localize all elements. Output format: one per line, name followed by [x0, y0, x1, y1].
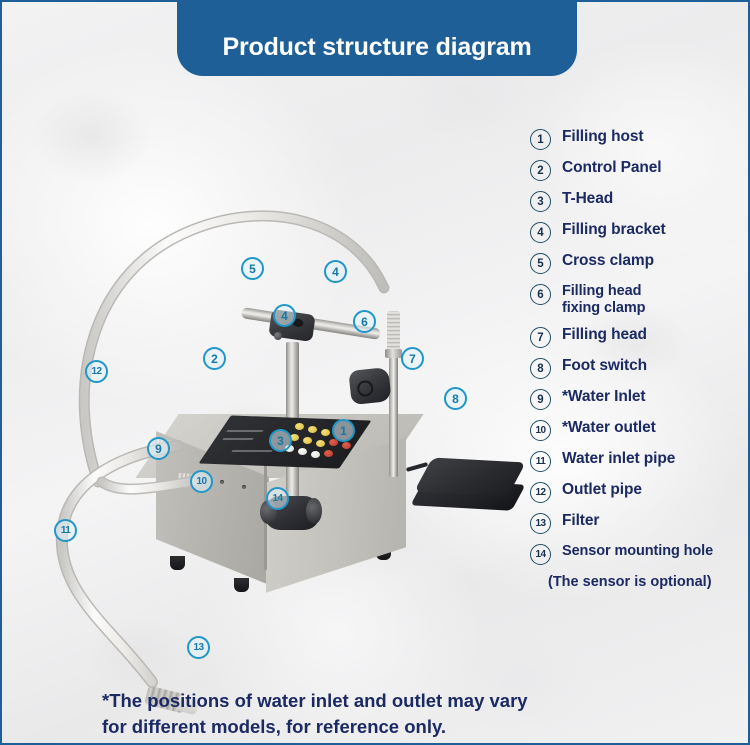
legend-label: *Water Inlet [562, 388, 646, 406]
foot-switch-pedal[interactable] [414, 458, 526, 497]
callout-filter: 13 [187, 636, 210, 659]
filling-head-collar [385, 349, 402, 358]
legend-item-13: 13 Filter [530, 512, 745, 534]
callout-outlet-pipe: 12 [85, 360, 108, 383]
legend-item-5: 5 Cross clamp [530, 252, 745, 274]
panel-button-white[interactable] [311, 451, 320, 458]
legend-label: Outlet pipe [562, 481, 642, 499]
panel-button-red[interactable] [324, 450, 333, 457]
panel-button-red[interactable] [342, 442, 351, 449]
callout-filling-host: 1 [332, 419, 355, 442]
panel-button-yellow[interactable] [295, 423, 304, 430]
legend-item-9: 9 *Water Inlet [530, 388, 745, 410]
machine-foot [234, 578, 249, 592]
clamp-screw [274, 332, 282, 340]
legend-item-1: 1 Filling host [530, 128, 745, 150]
legend-number: 8 [530, 358, 551, 379]
legend-number: 10 [530, 420, 551, 441]
callout-foot-switch: 8 [444, 387, 467, 410]
panel-button-white[interactable] [298, 448, 307, 455]
legend-label: Filling head [562, 326, 647, 344]
legend-item-11: 11 Water inlet pipe [530, 450, 745, 472]
legend-item-12: 12 Outlet pipe [530, 481, 745, 503]
panel-button-yellow[interactable] [321, 429, 330, 436]
panel-button-yellow[interactable] [303, 437, 312, 444]
legend-number: 3 [530, 191, 551, 212]
legend-number: 1 [530, 129, 551, 150]
filling-head-fixing-clamp-block [348, 367, 391, 405]
filling-head-tip [387, 311, 400, 351]
product-structure-diagram-page: Product structure diagram [0, 0, 750, 745]
legend-list: 1 Filling host 2 Control Panel 3 T-Head … [530, 128, 745, 590]
legend-label: Filter [562, 512, 599, 530]
panel-button-yellow[interactable] [316, 440, 325, 447]
legend-label: Filling bracket [562, 221, 666, 239]
product-photo: 12344567891011121314 [2, 82, 532, 702]
callout-sensor-mounting-hole: 14 [266, 487, 289, 510]
legend-label: Control Panel [562, 159, 661, 177]
legend-label: Filling host [562, 128, 643, 146]
legend-number: 4 [530, 222, 551, 243]
legend-number: 5 [530, 253, 551, 274]
t-head-knob[interactable] [306, 498, 322, 524]
footer-disclaimer: *The positions of water inlet and outlet… [102, 688, 662, 739]
legend-label: Foot switch [562, 357, 647, 375]
legend-item-7: 7 Filling head [530, 326, 745, 348]
callout-cross-clamp: 5 [241, 257, 264, 280]
legend-number: 14 [530, 544, 551, 565]
legend-label: *Water outlet [562, 419, 656, 437]
legend-item-10: 10 *Water outlet [530, 419, 745, 441]
callout-filling-bracket-horizontal: 4 [324, 260, 347, 283]
legend-label: T-Head [562, 190, 613, 208]
callout-control-panel: 2 [203, 347, 226, 370]
callout-water-inlet-pipe: 11 [54, 519, 77, 542]
footer-line-1: *The positions of water inlet and outlet… [102, 688, 662, 714]
legend-label: Cross clamp [562, 252, 654, 270]
sensor-mounting-hole [220, 480, 224, 484]
callout-water-inlet: 9 [147, 437, 170, 460]
legend-number: 9 [530, 389, 551, 410]
legend-label: Sensor mounting hole [562, 543, 713, 560]
legend-number: 6 [530, 284, 551, 305]
legend-number: 12 [530, 482, 551, 503]
filling-head-tube [389, 357, 398, 477]
legend-number: 11 [530, 451, 551, 472]
legend-item-8: 8 Foot switch [530, 357, 745, 379]
legend-note: (The sensor is optional) [548, 574, 745, 590]
legend-label: Water inlet pipe [562, 450, 675, 468]
callout-water-outlet: 10 [190, 470, 213, 493]
legend-item-4: 4 Filling bracket [530, 221, 745, 243]
callout-filling-head: 7 [401, 347, 424, 370]
header-banner: Product structure diagram [177, 0, 577, 76]
sensor-mounting-hole [242, 485, 246, 489]
legend-label: Filling head fixing clamp [562, 283, 645, 317]
page-title: Product structure diagram [223, 33, 532, 62]
legend-number: 7 [530, 327, 551, 348]
machine-foot [170, 556, 185, 570]
legend-number: 13 [530, 513, 551, 534]
panel-button-yellow[interactable] [308, 426, 317, 433]
legend-number: 2 [530, 160, 551, 181]
legend-item-14: 14 Sensor mounting hole [530, 543, 745, 565]
callout-filling-head-fixing-clamp: 6 [353, 310, 376, 333]
callout-filling-bracket-vertical: 4 [273, 304, 296, 327]
callout-t-head: 3 [269, 429, 292, 452]
legend-item-2: 2 Control Panel [530, 159, 745, 181]
legend-item-6: 6 Filling head fixing clamp [530, 283, 745, 317]
legend-item-3: 3 T-Head [530, 190, 745, 212]
footer-line-2: for different models, for reference only… [102, 714, 662, 740]
